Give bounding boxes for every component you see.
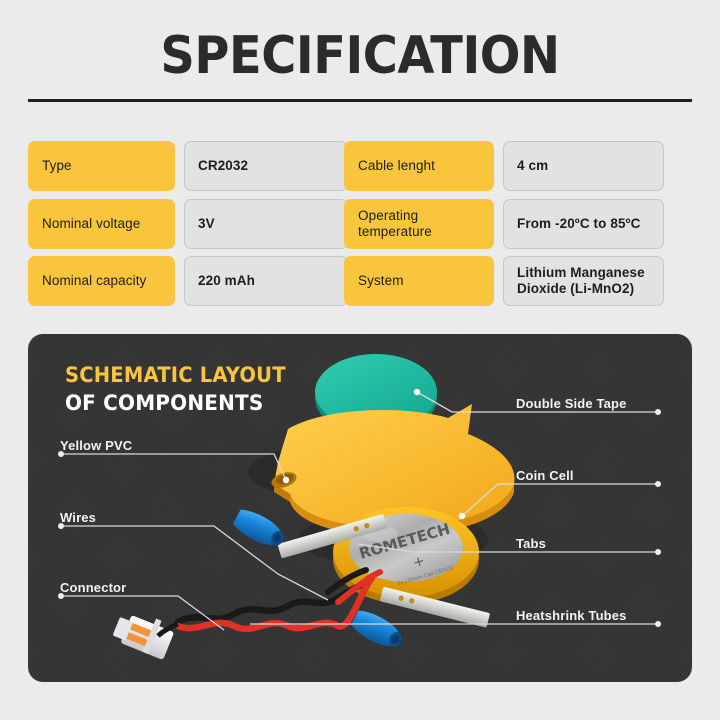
spec-row-type: Type CR2032 (28, 141, 348, 191)
spec-label-system: System (344, 256, 494, 306)
callout-wires: Wires (60, 510, 96, 525)
spec-label-nominal-capacity: Nominal capacity (28, 256, 175, 306)
spec-label-type: Type (28, 141, 175, 191)
callout-heatshrink-tubes: Heatshrink Tubes (516, 608, 627, 623)
spec-label-cable-length: Cable lenght (344, 141, 494, 191)
spec-value-type: CR2032 (184, 141, 348, 191)
callout-connector: Connector (60, 580, 126, 595)
callout-yellow-pvc: Yellow PVC (60, 438, 132, 453)
spec-label-nominal-voltage: Nominal voltage (28, 199, 175, 249)
spec-row-nominal-voltage: Nominal voltage 3V (28, 199, 348, 249)
spec-row-operating-temperature: Operating temperature From -20ºC to 85ºC (344, 199, 664, 249)
schematic-panel: SCHEMATIC LAYOUT OF COMPONENTS (28, 334, 692, 682)
callout-tabs: Tabs (516, 536, 546, 551)
spec-row-system: System Lithium Manganese Dioxide (Li-MnO… (344, 256, 664, 306)
spec-label-operating-temperature: Operating temperature (344, 199, 494, 249)
spec-row-nominal-capacity: Nominal capacity 220 mAh (28, 256, 348, 306)
exploded-view-artwork: ROMETECH + 3v Lithium Cell CR2032 (28, 334, 692, 682)
wires-art (178, 570, 380, 629)
connector-art (111, 606, 178, 660)
spec-value-system: Lithium Manganese Dioxide (Li-MnO2) (503, 256, 664, 306)
spec-value-cable-length: 4 cm (503, 141, 664, 191)
callout-coin-cell: Coin Cell (516, 468, 574, 483)
title-divider (28, 99, 692, 102)
spec-value-nominal-voltage: 3V (184, 199, 348, 249)
page-title: SPECIFICATION (29, 26, 691, 86)
spec-value-nominal-capacity: 220 mAh (184, 256, 348, 306)
callout-double-side-tape: Double Side Tape (516, 396, 627, 411)
spec-value-operating-temperature: From -20ºC to 85ºC (503, 199, 664, 249)
spec-row-cable-length: Cable lenght 4 cm (344, 141, 664, 191)
specification-page: SPECIFICATION Type CR2032 Nominal voltag… (0, 0, 720, 720)
